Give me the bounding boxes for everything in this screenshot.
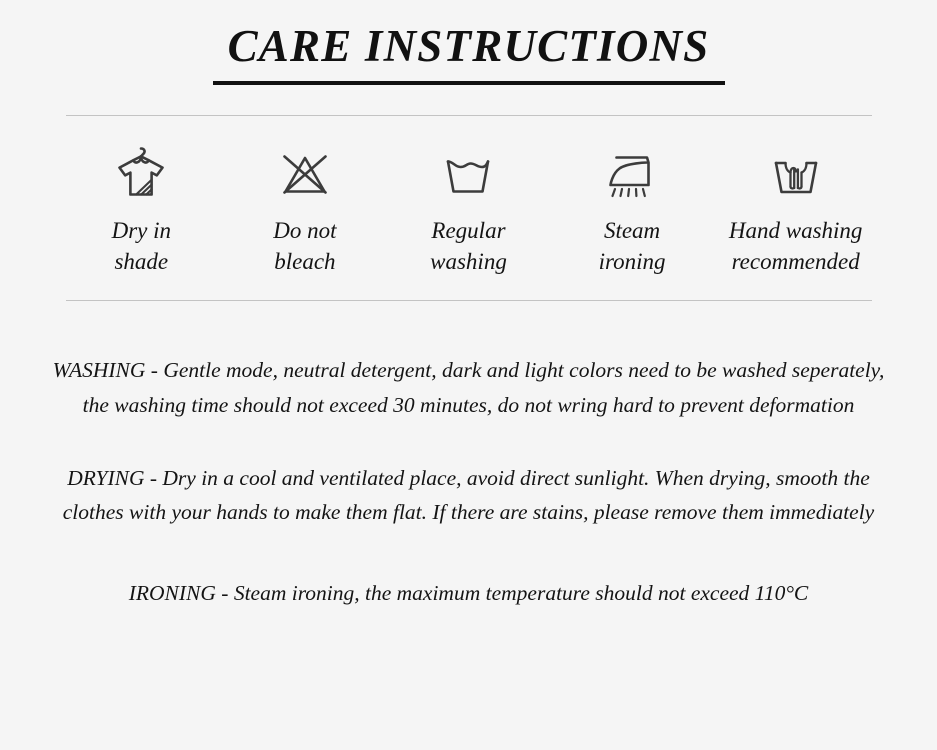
regular-washing-tub-icon xyxy=(433,144,503,202)
care-symbol-steam-ironing: Steam ironing xyxy=(550,144,714,278)
care-symbol-caption: Do not bleach xyxy=(273,215,336,278)
care-symbol-caption: Regular washing xyxy=(430,215,507,278)
care-symbol-dry-in-shade: Dry in shade xyxy=(60,144,224,278)
care-symbol-caption: Dry in shade xyxy=(112,215,171,278)
instruction-paragraph-ironing: IRONING - Steam ironing, the maximum tem… xyxy=(39,568,899,611)
page-title: CARE INSTRUCTIONS xyxy=(222,22,716,78)
instruction-paragraph-washing: WASHING - Gentle mode, neutral detergent… xyxy=(39,353,899,423)
instruction-paragraph-drying: DRYING - Dry in a cool and ventilated pl… xyxy=(39,461,899,531)
care-symbol-regular-washing: Regular washing xyxy=(387,144,551,278)
title-block: CARE INSTRUCTIONS xyxy=(0,0,937,85)
do-not-bleach-crossed-triangle-icon xyxy=(270,144,340,202)
care-symbol-caption: Hand washing recommended xyxy=(729,215,863,278)
steam-ironing-iron-icon xyxy=(597,144,667,202)
care-symbol-hand-washing: Hand washing recommended xyxy=(714,144,878,278)
dry-in-shade-tshirt-hanger-icon xyxy=(106,144,176,202)
care-symbol-do-not-bleach: Do not bleach xyxy=(223,144,387,278)
hand-washing-tub-hand-icon xyxy=(761,144,831,202)
title-underline-rule xyxy=(213,81,725,85)
care-symbol-row: Dry in shade Do not bleach Regular washi… xyxy=(54,116,884,300)
care-instructions-label: CARE INSTRUCTIONS Dry in shade xyxy=(0,0,937,750)
care-symbol-caption: Steam ironing xyxy=(599,215,666,278)
instructions-section: WASHING - Gentle mode, neutral detergent… xyxy=(39,301,899,611)
